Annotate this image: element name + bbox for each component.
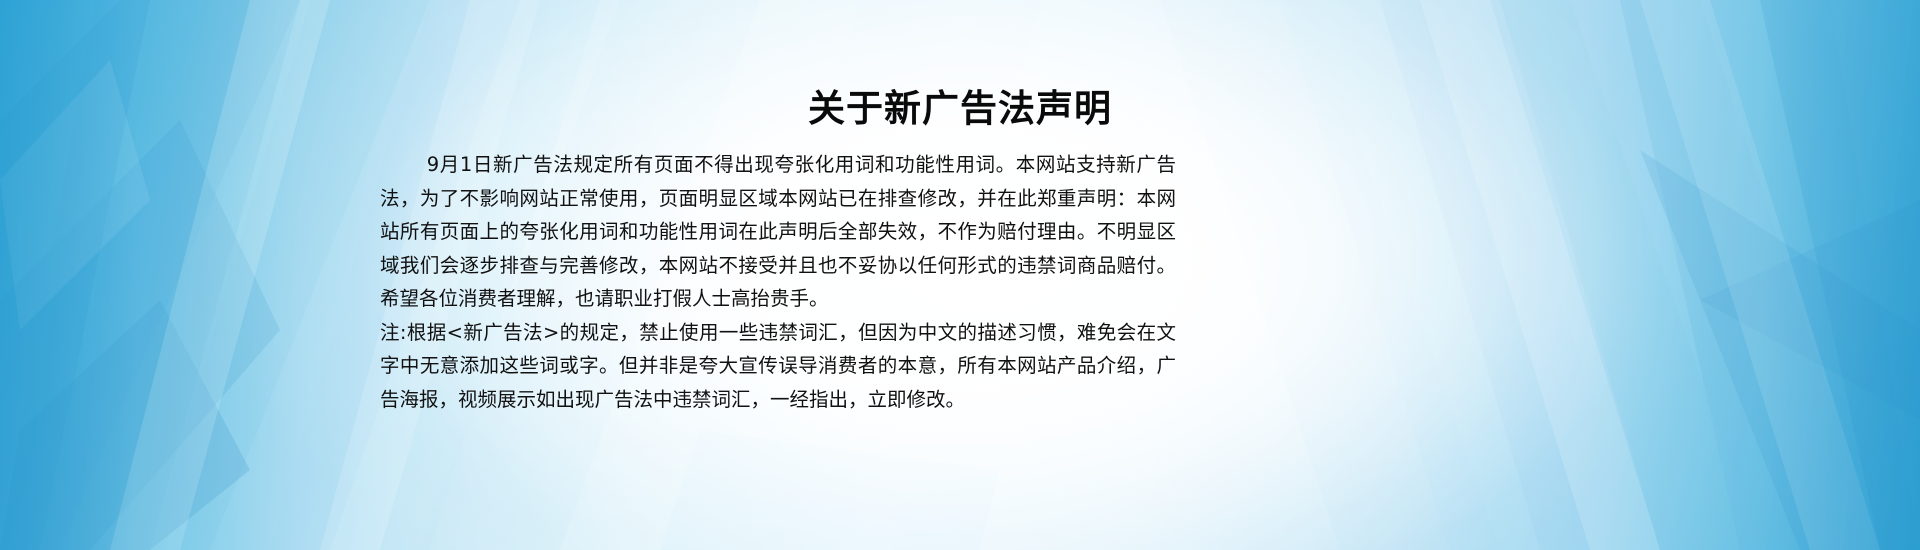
statement-body: 9月1日新广告法规定所有页面不得出现夸张化用词和功能性用词。本网站支持新广告法，… bbox=[380, 148, 1176, 416]
statement-content: 关于新广告法声明 9月1日新广告法规定所有页面不得出现夸张化用词和功能性用词。本… bbox=[0, 0, 1920, 550]
advertising-law-statement-banner: 关于新广告法声明 9月1日新广告法规定所有页面不得出现夸张化用词和功能性用词。本… bbox=[0, 0, 1920, 550]
statement-paragraph-note: 注:根据<新广告法>的规定，禁止使用一些违禁词汇，但因为中文的描述习惯，难免会在… bbox=[380, 316, 1176, 417]
page-title: 关于新广告法声明 bbox=[0, 86, 1920, 132]
statement-paragraph-main: 9月1日新广告法规定所有页面不得出现夸张化用词和功能性用词。本网站支持新广告法，… bbox=[380, 148, 1176, 316]
